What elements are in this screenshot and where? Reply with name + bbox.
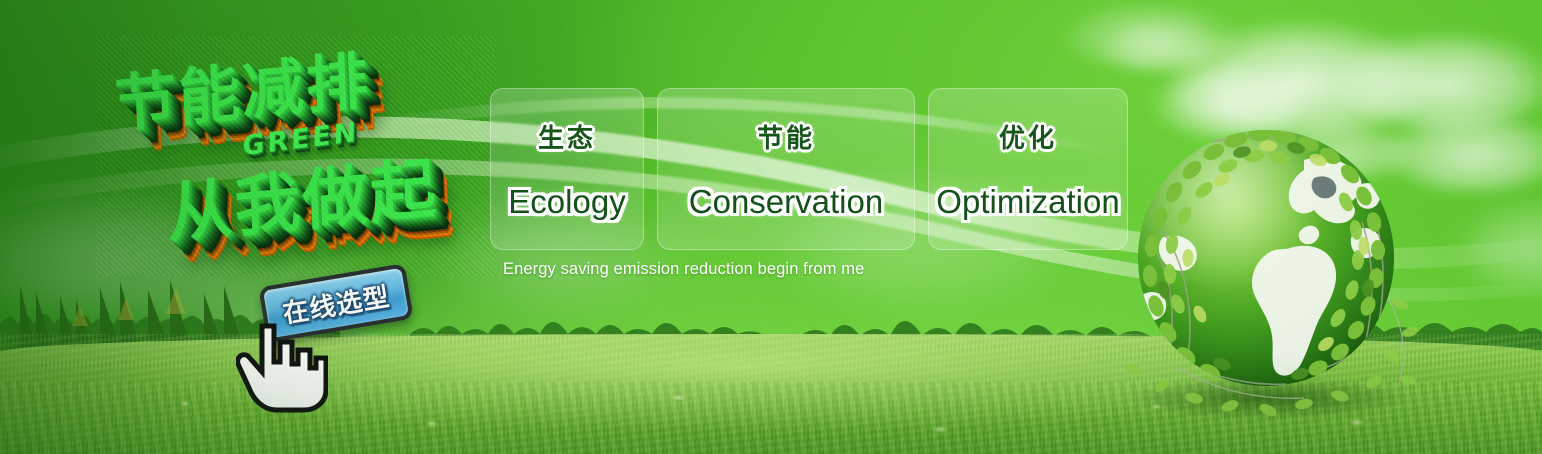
banner-tagline: Energy saving emission reduction begin f… bbox=[503, 260, 864, 279]
feature-card-ecology[interactable]: 生态 Ecology bbox=[490, 88, 644, 250]
feature-card-cn-label: 生态 bbox=[538, 118, 596, 155]
hero-title-artwork: 节能减排 GREEN 从我做起 bbox=[96, 36, 496, 276]
eco-banner: 节能减排 GREEN 从我做起 在线选型 生态 Ecology 节能 Conse… bbox=[0, 0, 1542, 454]
feature-card-cn-label: 节能 bbox=[757, 118, 815, 155]
feature-card-en-label: Ecology bbox=[508, 183, 625, 221]
feature-card-list: 生态 Ecology 节能 Conservation 优化 Optimizati… bbox=[490, 88, 1128, 250]
hero-title-line2: 从我做起 bbox=[165, 135, 440, 257]
online-selection-label: 在线选型 bbox=[280, 276, 393, 330]
feature-card-cn-label: 优化 bbox=[999, 118, 1057, 155]
feature-card-en-label: Optimization bbox=[936, 183, 1119, 221]
leafy-earth-globe-icon bbox=[1118, 118, 1418, 428]
feature-card-en-label: Conservation bbox=[689, 183, 883, 221]
feature-card-optimization[interactable]: 优化 Optimization bbox=[928, 88, 1128, 250]
feature-card-conservation[interactable]: 节能 Conservation bbox=[657, 88, 915, 250]
